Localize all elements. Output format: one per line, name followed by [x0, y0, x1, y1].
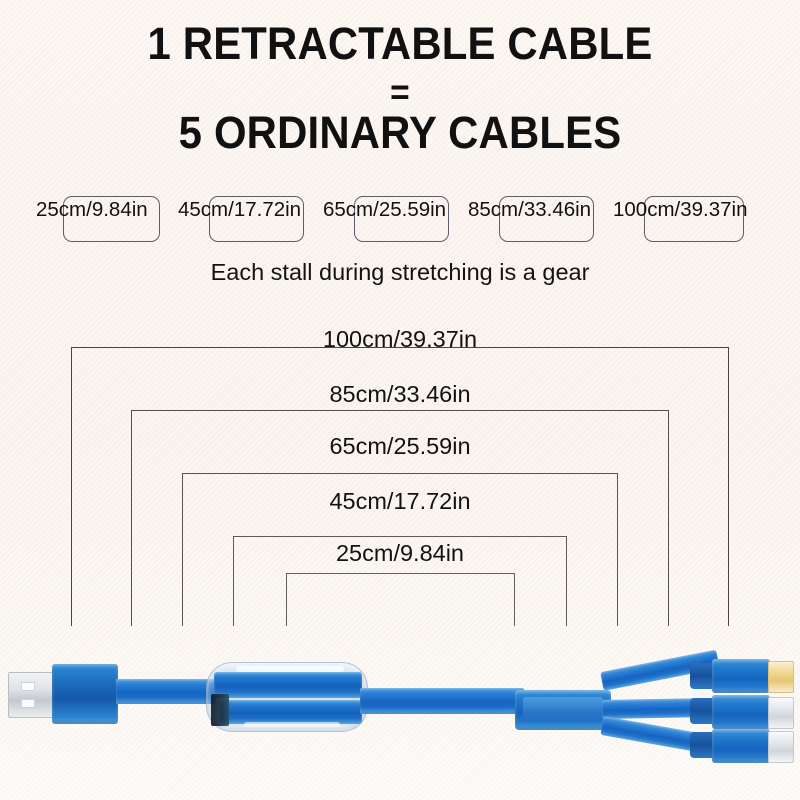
gear-label-1: 25cm/9.84in: [36, 198, 148, 222]
branch-arm-usb-c-middle: [602, 698, 702, 719]
headline-equals-sign: =: [28, 72, 772, 112]
headline-line-1: 1 RETRACTABLE CABLE: [28, 19, 772, 69]
bracket-label-25cm: 25cm/9.84in: [0, 539, 800, 567]
bracket-label-85cm: 85cm/33.46in: [0, 380, 800, 408]
bracket-25cm: [286, 573, 515, 626]
usb-c-middle-connector-tip: [768, 697, 794, 729]
spool-highlight-bottom: [244, 722, 340, 727]
bracket-label-45cm: 45cm/17.72in: [0, 487, 800, 515]
gear-label-2: 45cm/17.72in: [178, 198, 301, 222]
gear-label-4: 85cm/33.46in: [468, 198, 591, 222]
spool-highlight-top: [236, 666, 344, 672]
gear-label-5: 100cm/39.37in: [613, 198, 747, 222]
usb-a-metal-tip: [8, 672, 56, 718]
flat-cable-segment-right: [360, 688, 524, 714]
infographic-canvas: 1 RETRACTABLE CABLE = 5 ORDINARY CABLES …: [0, 0, 800, 800]
usb-c-bottom-connector-tip: [768, 731, 794, 763]
cable-splitter-inner-panel: [523, 697, 603, 722]
headline-line-2: 5 ORDINARY CABLES: [28, 108, 772, 158]
usb-a-connector-body: [52, 664, 118, 724]
spool-coil-upper: [214, 672, 362, 698]
spool-coil-lower: [220, 700, 362, 724]
usb-c-bottom-connector-body: [712, 729, 770, 763]
lightning-connector-body: [712, 659, 770, 693]
spool-cable-slot: [211, 694, 229, 726]
bracket-label-65cm: 65cm/25.59in: [0, 432, 800, 460]
usb-c-middle-connector-body: [712, 695, 770, 729]
subtitle-text: Each stall during stretching is a gear: [0, 258, 800, 286]
flat-cable-segment-left: [116, 679, 216, 704]
gear-label-3: 65cm/25.59in: [323, 198, 446, 222]
lightning-connector-tip: [768, 661, 794, 693]
